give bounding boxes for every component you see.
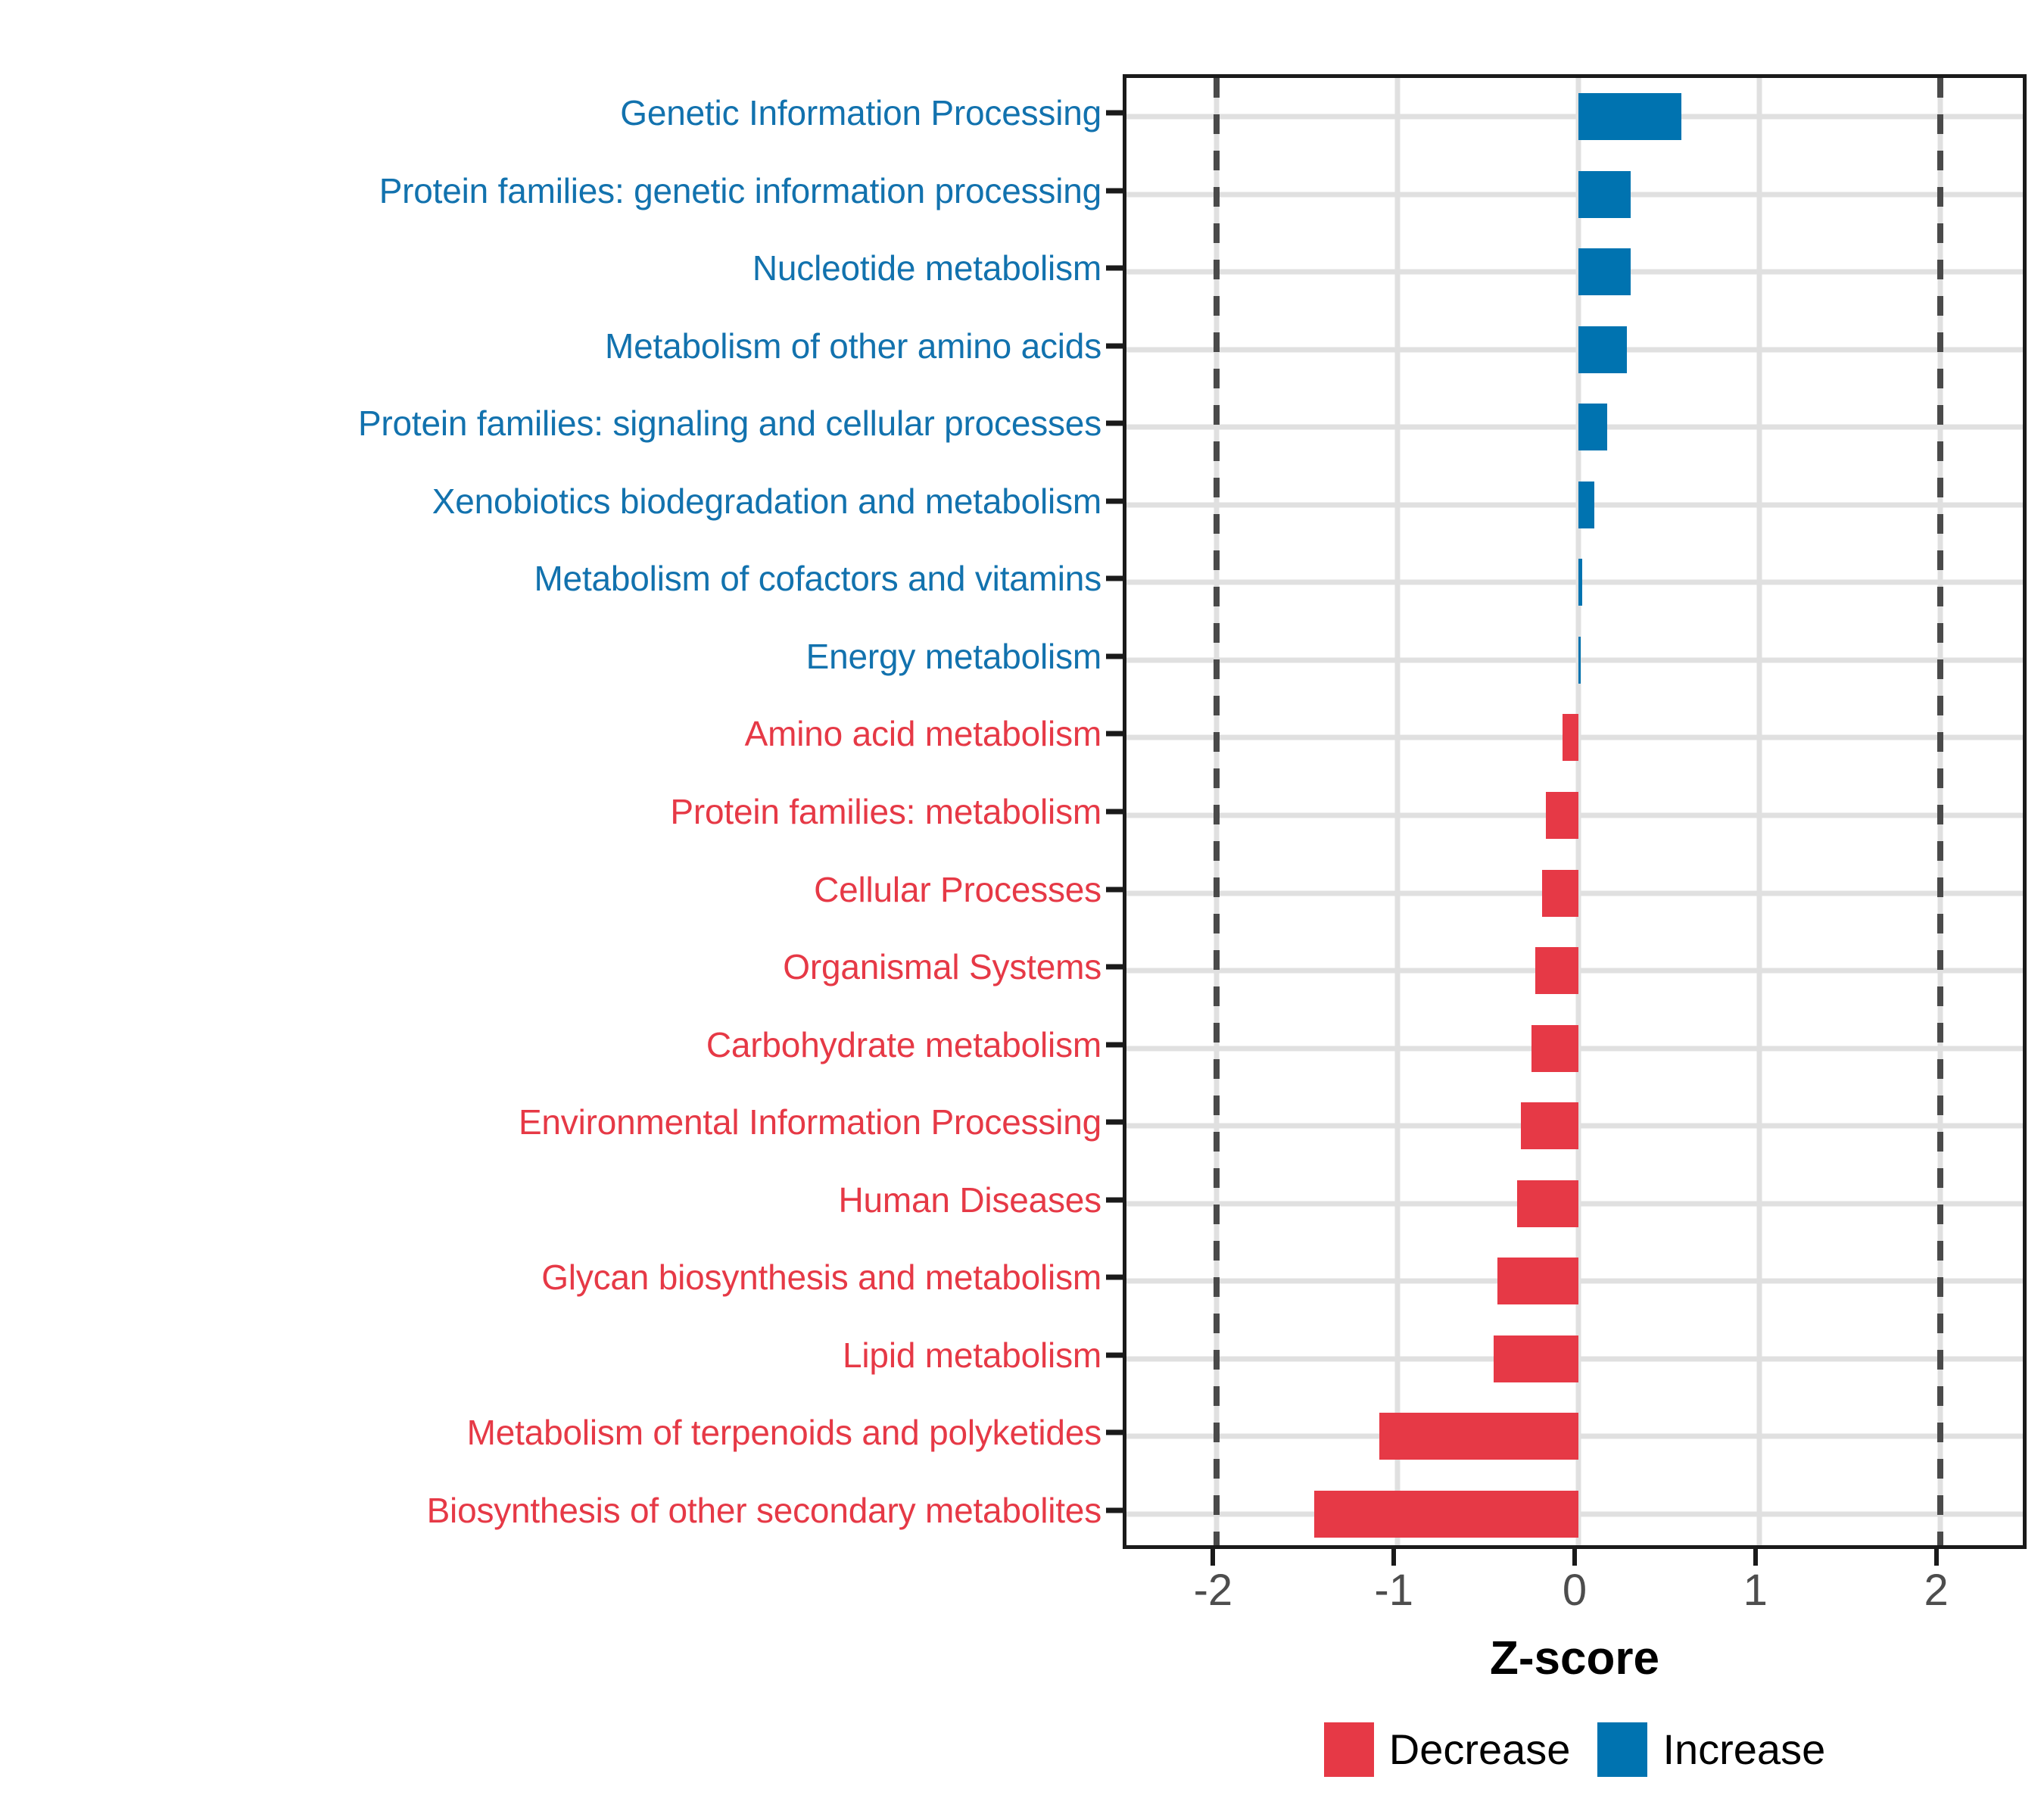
- horizontal-gridline: [1126, 657, 2023, 662]
- reference-line-dashed: [1937, 78, 1943, 1545]
- legend-swatch-increase: [1597, 1722, 1647, 1777]
- x-axis-tick: [1753, 1549, 1758, 1566]
- bar: [1531, 1025, 1578, 1072]
- chart-root: Genetic Information ProcessingProtein fa…: [0, 0, 2044, 1817]
- y-axis-tick: [1106, 965, 1123, 970]
- x-axis-tick: [1572, 1549, 1577, 1566]
- bar: [1542, 870, 1578, 917]
- x-axis-ticks: [1123, 1549, 2027, 1566]
- bar: [1535, 947, 1578, 994]
- y-axis-tick: [1106, 653, 1123, 659]
- y-axis-tick: [1106, 498, 1123, 503]
- y-axis-category-label: Genetic Information Processing: [0, 95, 1101, 130]
- y-axis-tick: [1106, 188, 1123, 193]
- horizontal-gridline: [1126, 114, 2023, 120]
- y-axis-tick: [1106, 1275, 1123, 1280]
- vertical-gridline: [1756, 78, 1762, 1545]
- reference-line-dashed: [1214, 78, 1220, 1545]
- bar: [1578, 93, 1681, 140]
- bar: [1563, 714, 1578, 761]
- plot-panel: [1123, 74, 2027, 1549]
- x-axis-tick-label: 2: [1924, 1569, 1948, 1613]
- y-axis-tick: [1106, 266, 1123, 271]
- vertical-gridline: [1395, 78, 1401, 1545]
- y-axis-tick: [1106, 887, 1123, 892]
- chart-legend: DecreaseIncrease: [1123, 1722, 2027, 1777]
- y-axis-category-label: Amino acid metabolism: [0, 716, 1101, 751]
- y-axis-tick: [1106, 111, 1123, 116]
- bar: [1578, 404, 1607, 450]
- y-axis-category-label: Organismal Systems: [0, 949, 1101, 984]
- x-axis-tick-labels: -2-1012: [1123, 1569, 2027, 1622]
- y-axis-tick: [1106, 343, 1123, 348]
- bar: [1578, 482, 1594, 528]
- y-axis-category-label: Nucleotide metabolism: [0, 251, 1101, 285]
- horizontal-gridline: [1126, 425, 2023, 430]
- y-axis-tick: [1106, 421, 1123, 426]
- bar: [1578, 637, 1581, 684]
- y-axis-category-label: Energy metabolism: [0, 639, 1101, 674]
- x-axis-tick-label: -1: [1374, 1569, 1413, 1613]
- x-axis-tick: [1391, 1549, 1396, 1566]
- y-axis-tick: [1106, 1430, 1123, 1435]
- x-axis-tick: [1934, 1549, 1939, 1566]
- x-axis-title: Z-score: [1123, 1635, 2027, 1682]
- y-axis-tick: [1106, 1120, 1123, 1125]
- bar: [1497, 1258, 1578, 1304]
- horizontal-gridline: [1126, 192, 2023, 197]
- y-axis-tick: [1106, 809, 1123, 815]
- bar: [1494, 1335, 1578, 1382]
- y-axis-tick: [1106, 1507, 1123, 1513]
- bar: [1379, 1413, 1578, 1460]
- bar: [1578, 171, 1631, 218]
- bar: [1546, 792, 1578, 839]
- x-axis-tick-label: 1: [1743, 1569, 1768, 1613]
- horizontal-gridline: [1126, 502, 2023, 507]
- y-axis-tick: [1106, 1352, 1123, 1357]
- y-axis-category-label: Xenobiotics biodegradation and metabolis…: [0, 484, 1101, 519]
- y-axis-category-label: Glycan biosynthesis and metabolism: [0, 1260, 1101, 1295]
- y-axis-category-label: Protein families: metabolism: [0, 794, 1101, 829]
- y-axis-category-label: Metabolism of terpenoids and polyketides: [0, 1415, 1101, 1450]
- bar: [1578, 326, 1627, 373]
- legend-label-decrease: Decrease: [1389, 1728, 1571, 1771]
- bar: [1521, 1102, 1578, 1149]
- x-axis-tick: [1211, 1549, 1215, 1566]
- legend-item-increase[interactable]: Increase: [1597, 1722, 1825, 1777]
- x-axis-tick-label: 0: [1563, 1569, 1587, 1613]
- y-axis-tick: [1106, 1197, 1123, 1202]
- bar: [1578, 248, 1631, 295]
- y-axis-category-label: Environmental Information Processing: [0, 1105, 1101, 1139]
- y-axis-category-label: Lipid metabolism: [0, 1338, 1101, 1373]
- y-axis-tick: [1106, 1042, 1123, 1047]
- y-axis-category-label: Protein families: signaling and cellular…: [0, 406, 1101, 441]
- bar: [1314, 1491, 1578, 1538]
- y-axis-category-label: Human Diseases: [0, 1183, 1101, 1217]
- y-axis-category-label: Protein families: genetic information pr…: [0, 173, 1101, 208]
- horizontal-gridline: [1126, 270, 2023, 275]
- legend-label-increase: Increase: [1662, 1728, 1825, 1771]
- y-axis-tick: [1106, 731, 1123, 737]
- legend-swatch-decrease: [1324, 1722, 1374, 1777]
- bar: [1578, 559, 1582, 606]
- y-axis-category-label: Metabolism of other amino acids: [0, 329, 1101, 363]
- y-axis-tick: [1106, 576, 1123, 581]
- plot-panel-inner: [1126, 78, 2023, 1545]
- legend-item-decrease[interactable]: Decrease: [1324, 1722, 1571, 1777]
- x-axis-tick-label: -2: [1194, 1569, 1233, 1613]
- horizontal-gridline: [1126, 580, 2023, 585]
- y-axis-category-label: Carbohydrate metabolism: [0, 1027, 1101, 1062]
- y-axis-category-labels: Genetic Information ProcessingProtein fa…: [0, 74, 1101, 1549]
- y-axis-category-label: Metabolism of cofactors and vitamins: [0, 561, 1101, 596]
- bar: [1517, 1180, 1578, 1227]
- y-axis-category-label: Cellular Processes: [0, 872, 1101, 907]
- y-axis-category-label: Biosynthesis of other secondary metaboli…: [0, 1493, 1101, 1528]
- horizontal-gridline: [1126, 347, 2023, 352]
